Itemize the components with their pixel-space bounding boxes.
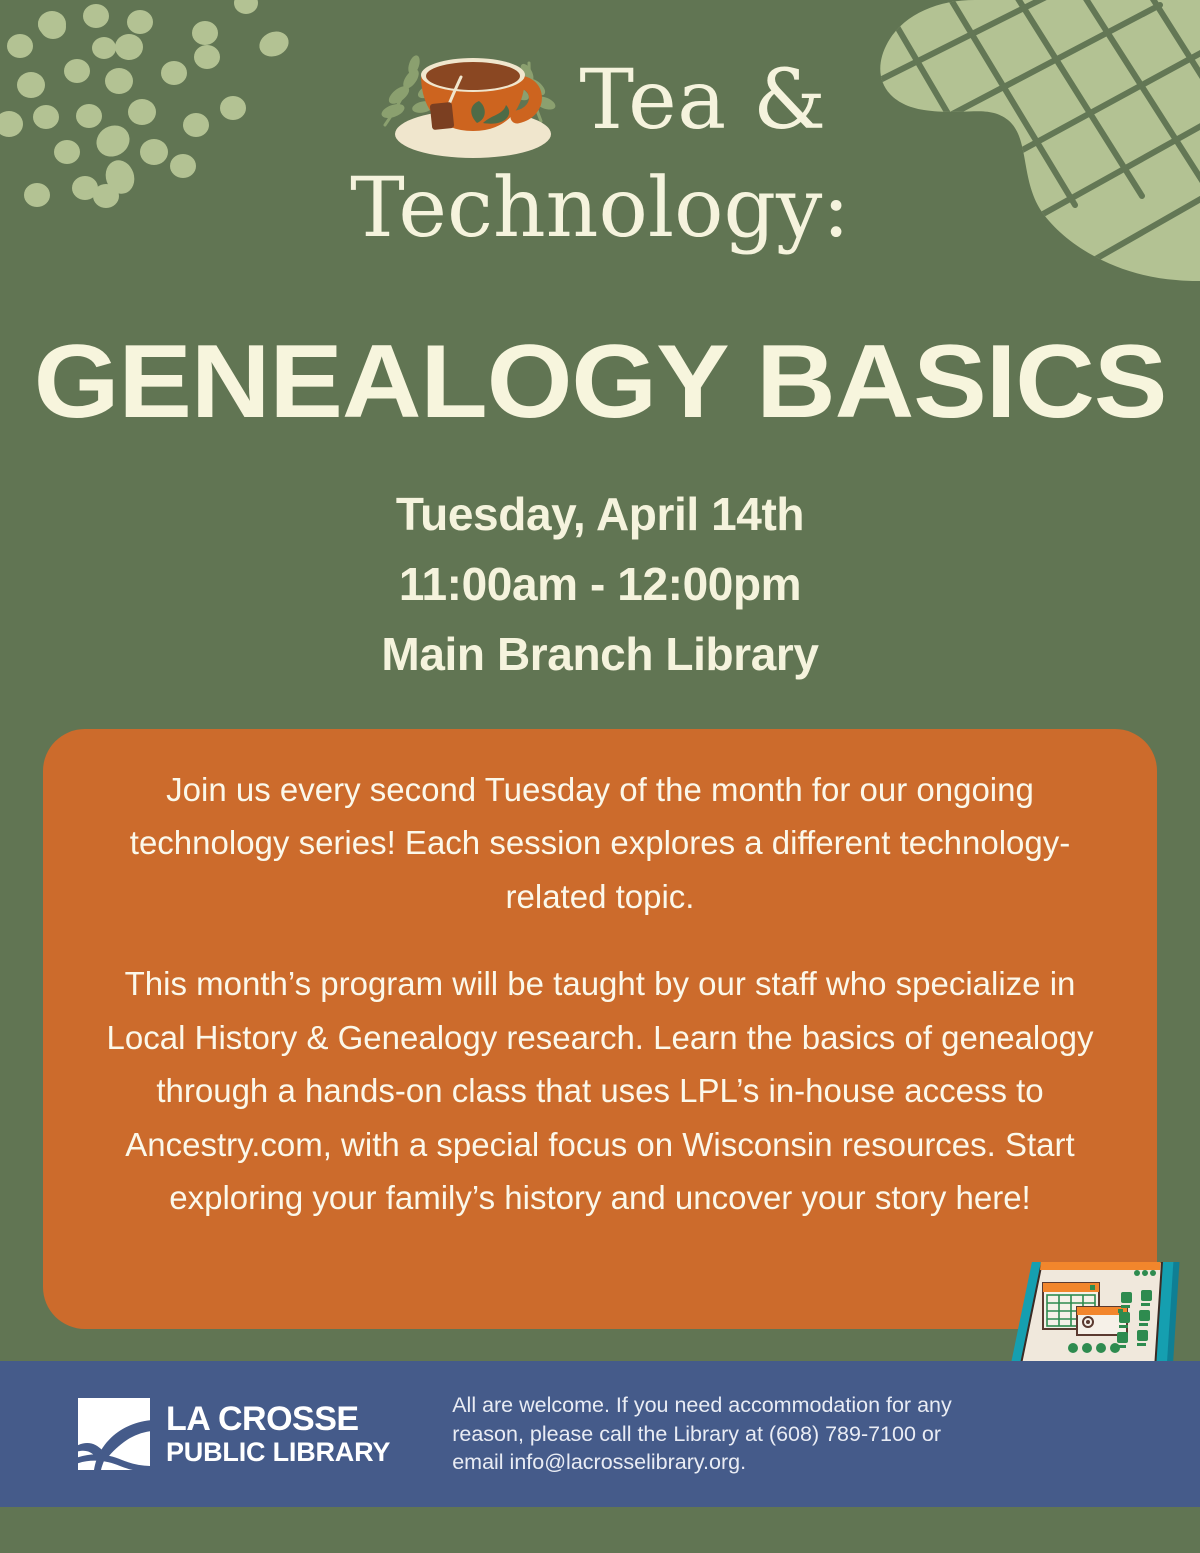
logo-wordmark: LA CROSSE PUBLIC LIBRARY [166, 1402, 390, 1466]
page-title: GENEALOGY BASICS [0, 327, 1200, 437]
accommodation-notice: All are welcome. If you need accommodati… [452, 1391, 952, 1477]
footer-bar: LA CROSSE PUBLIC LIBRARY All are welcome… [0, 1361, 1200, 1507]
poster-canvas: Tea & Technology: GENEALOGY BASICS Tuesd… [0, 0, 1200, 1553]
header-script-line-2: Technology: [0, 168, 1200, 250]
event-time: 11:00am - 12:00pm [0, 550, 1200, 620]
paragraph-spacer [99, 923, 1101, 957]
library-logo: LA CROSSE PUBLIC LIBRARY [78, 1398, 390, 1470]
header-script-line-1: Tea & [579, 60, 826, 142]
la-crosse-library-logo-icon [78, 1398, 150, 1470]
description-paragraph-2: This month’s program will be taught by o… [99, 957, 1101, 1224]
teacup-icon [373, 35, 573, 165]
bottom-strip [0, 1507, 1200, 1553]
event-location: Main Branch Library [0, 620, 1200, 690]
poster-header: Tea & Technology: [0, 46, 1200, 250]
description-paragraph-1: Join us every second Tuesday of the mont… [99, 763, 1101, 923]
logo-line-1: LA CROSSE [166, 1402, 390, 1436]
logo-line-2: PUBLIC LIBRARY [166, 1439, 390, 1466]
header-line-one: Tea & [0, 46, 1200, 156]
event-details: Tuesday, April 14th 11:00am - 12:00pm Ma… [0, 480, 1200, 690]
event-date: Tuesday, April 14th [0, 480, 1200, 550]
description-panel: Join us every second Tuesday of the mont… [43, 729, 1157, 1329]
